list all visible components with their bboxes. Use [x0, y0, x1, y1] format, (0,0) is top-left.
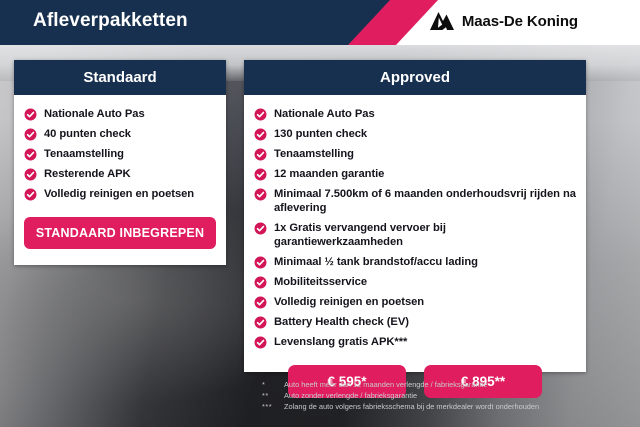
- page-title: Afleverpakketten: [33, 10, 188, 32]
- footnote-mark: ***: [262, 401, 284, 412]
- list-item: Battery Health check (EV): [254, 315, 576, 329]
- check-circle-icon: [254, 188, 267, 201]
- footnote-text: Zolang de auto volgens fabrieksschema bi…: [284, 401, 622, 412]
- check-circle-icon: [24, 148, 37, 161]
- feature-label: Volledig reinigen en poetsen: [44, 187, 194, 201]
- check-circle-icon: [254, 168, 267, 181]
- check-circle-icon: [254, 316, 267, 329]
- feature-label: Levenslang gratis APK***: [274, 335, 407, 349]
- feature-label: 1x Gratis vervangend vervoer bij garanti…: [274, 221, 576, 249]
- check-circle-icon: [254, 108, 267, 121]
- brand-name-text: Maas-De Koning: [462, 13, 578, 30]
- list-item: Nationale Auto Pas: [24, 107, 216, 121]
- footnote-text: Auto zonder verlengde / fabrieksgarantie: [284, 390, 622, 401]
- maas-de-koning-m-logomark: [429, 11, 455, 31]
- feature-label: Battery Health check (EV): [274, 315, 409, 329]
- card-body-standaard: Nationale Auto Pas 40 punten check Tenaa…: [14, 95, 226, 201]
- check-circle-icon: [24, 108, 37, 121]
- standaard-cta-wrap: STANDAARD INBEGREPEN: [14, 207, 226, 249]
- list-item: Nationale Auto Pas: [254, 107, 576, 121]
- page-header: Afleverpakketten Maas-De Koning: [0, 0, 640, 45]
- list-item: 12 maanden garantie: [254, 167, 576, 181]
- footnote-single-asterisk: * Auto heeft meer dan 12 maanden verleng…: [262, 379, 622, 390]
- feature-label: Volledig reinigen en poetsen: [274, 295, 424, 309]
- check-circle-icon: [24, 188, 37, 201]
- list-item: Tenaamstelling: [254, 147, 576, 161]
- feature-label: 40 punten check: [44, 127, 131, 141]
- footnote-triple-asterisk: *** Zolang de auto volgens fabrieksschem…: [262, 401, 622, 412]
- list-item: Mobiliteitsservice: [254, 275, 576, 289]
- check-circle-icon: [254, 148, 267, 161]
- feature-list-standaard: Nationale Auto Pas 40 punten check Tenaa…: [24, 107, 216, 201]
- list-item: Tenaamstelling: [24, 147, 216, 161]
- feature-label: Tenaamstelling: [44, 147, 124, 161]
- page-root: Afleverpakketten Maas-De Koning Standaar…: [0, 0, 640, 427]
- feature-label: 130 punten check: [274, 127, 367, 141]
- footnote-mark: **: [262, 390, 284, 401]
- footnotes: * Auto heeft meer dan 12 maanden verleng…: [262, 379, 622, 412]
- footnote-text: Auto heeft meer dan 12 maanden verlengde…: [284, 379, 622, 390]
- list-item: Volledig reinigen en poetsen: [254, 295, 576, 309]
- feature-label: Mobiliteitsservice: [274, 275, 367, 289]
- footnote-mark: *: [262, 379, 284, 390]
- package-card-approved: Approved Nationale Auto Pas 130 punten c: [244, 60, 586, 372]
- check-circle-icon: [254, 296, 267, 309]
- standaard-inbegrepen-button[interactable]: STANDAARD INBEGREPEN: [24, 217, 216, 249]
- card-header-approved: Approved: [244, 60, 586, 95]
- package-card-standaard: Standaard Nationale Auto Pas 40 punten c: [14, 60, 226, 265]
- list-item: Volledig reinigen en poetsen: [24, 187, 216, 201]
- list-item: Minimaal 7.500km of 6 maanden onderhouds…: [254, 187, 576, 215]
- check-circle-icon: [254, 276, 267, 289]
- list-item: 130 punten check: [254, 127, 576, 141]
- check-circle-icon: [24, 128, 37, 141]
- feature-label: 12 maanden garantie: [274, 167, 384, 181]
- card-body-approved: Nationale Auto Pas 130 punten check Tena…: [244, 95, 586, 398]
- check-circle-icon: [254, 256, 267, 269]
- check-circle-icon: [24, 168, 37, 181]
- feature-list-approved: Nationale Auto Pas 130 punten check Tena…: [254, 107, 576, 349]
- check-circle-icon: [254, 222, 267, 235]
- card-header-standaard: Standaard: [14, 60, 226, 95]
- check-circle-icon: [254, 128, 267, 141]
- feature-label: Minimaal 7.500km of 6 maanden onderhouds…: [274, 187, 576, 215]
- feature-label: Nationale Auto Pas: [274, 107, 375, 121]
- list-item: Resterende APK: [24, 167, 216, 181]
- feature-label: Tenaamstelling: [274, 147, 354, 161]
- footnote-double-asterisk: ** Auto zonder verlengde / fabrieksgaran…: [262, 390, 622, 401]
- card-title-standaard: Standaard: [83, 69, 156, 86]
- feature-label: Nationale Auto Pas: [44, 107, 145, 121]
- list-item: Minimaal ½ tank brandstof/accu lading: [254, 255, 576, 269]
- list-item: 40 punten check: [24, 127, 216, 141]
- list-item: 1x Gratis vervangend vervoer bij garanti…: [254, 221, 576, 249]
- check-circle-icon: [254, 336, 267, 349]
- feature-label: Resterende APK: [44, 167, 131, 181]
- brand-logo: Maas-De Koning: [429, 11, 578, 31]
- list-item: Levenslang gratis APK***: [254, 335, 576, 349]
- feature-label: Minimaal ½ tank brandstof/accu lading: [274, 255, 478, 269]
- card-title-approved: Approved: [380, 69, 450, 86]
